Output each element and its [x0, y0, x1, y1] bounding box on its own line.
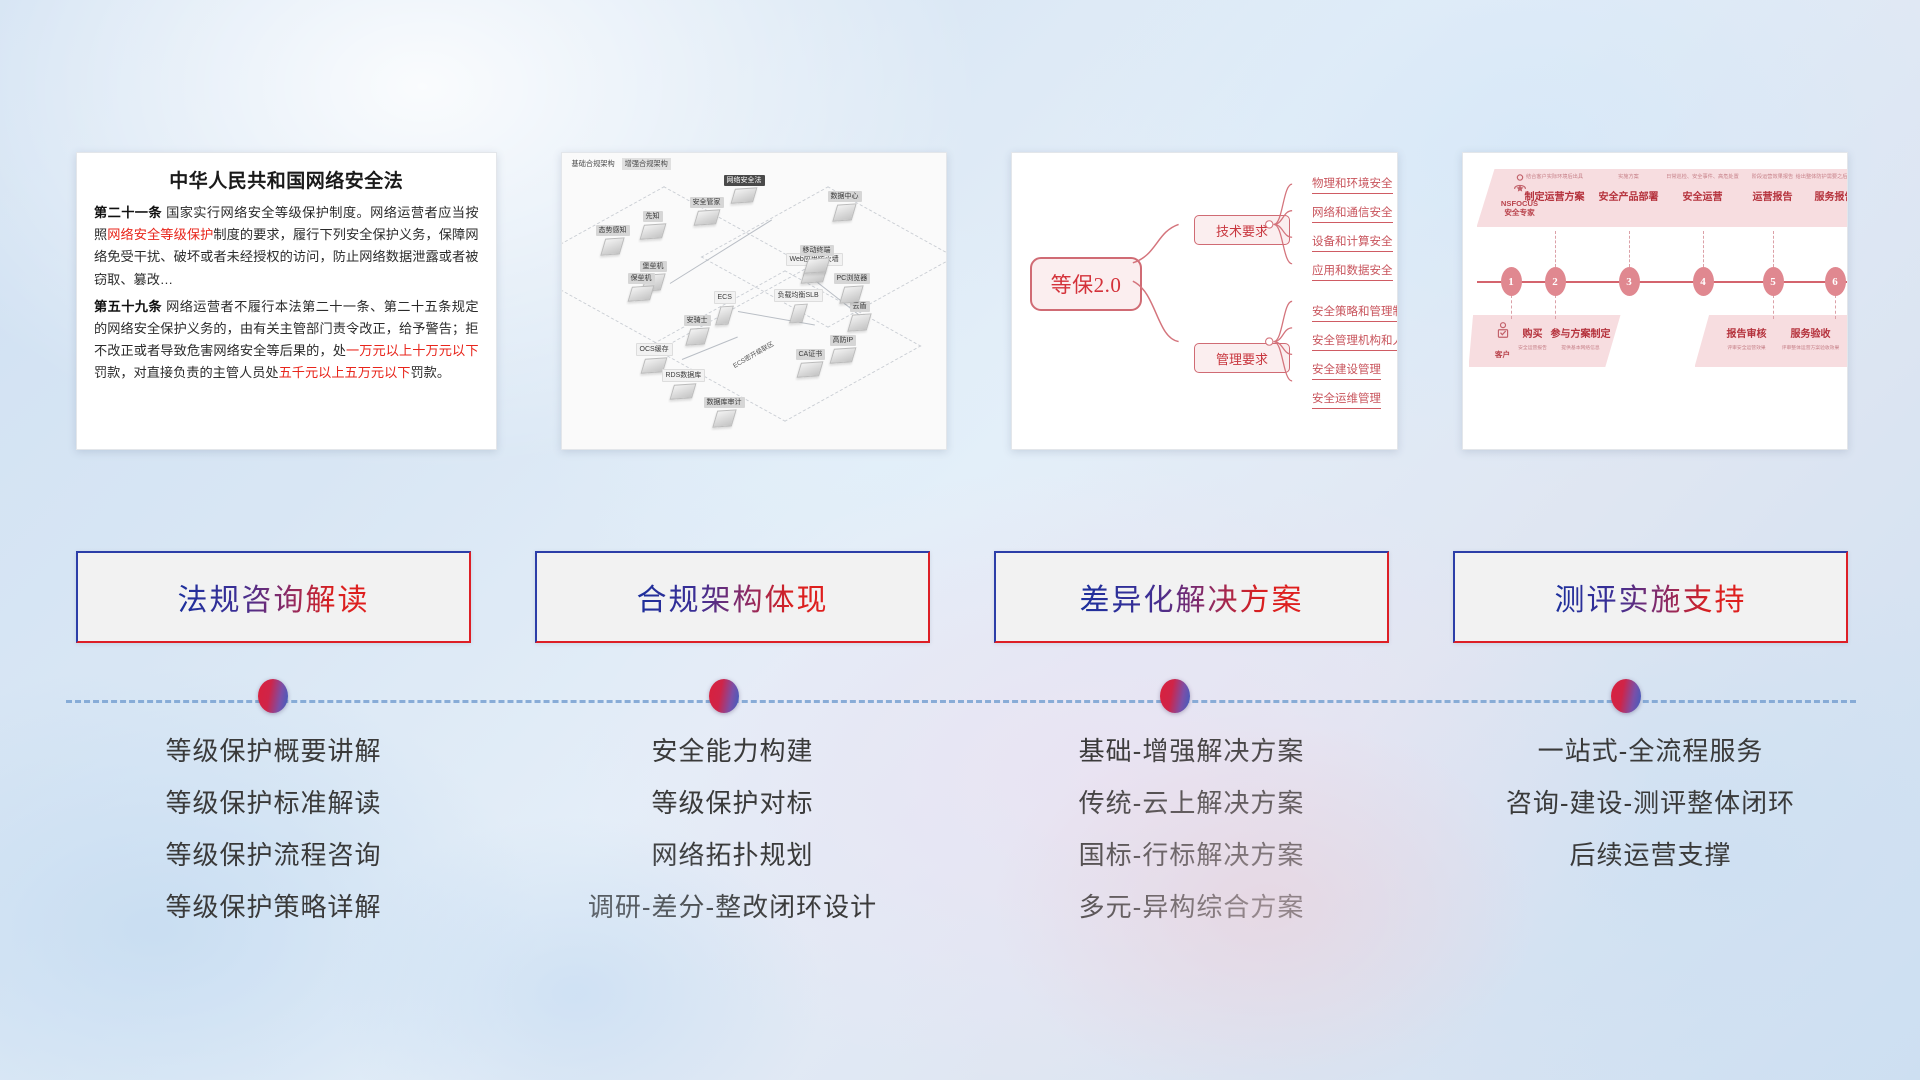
roadmap-upper-step: 日常巡检、安全事件、高危处置安全运营 [1664, 175, 1742, 203]
detail-list-column-1: 等级保护概要讲解等级保护标准解读等级保护流程咨询等级保护策略详解 [76, 738, 471, 946]
arch-node-cube-icon [712, 409, 736, 427]
detail-list-item: 安全能力构建 [651, 738, 813, 764]
law-article-59-highlight-1: 一万元以上十万元以下 [346, 343, 479, 358]
roadmap-step-subtitle: 给出整体防护需要之后本运营效果 [1796, 175, 1849, 181]
title-label-2: 合规架构体现 [637, 575, 829, 619]
detail-list-item: 基础-增强解决方案 [1079, 738, 1305, 764]
arch-node: 高防IP [830, 335, 857, 363]
detail-list-item: 后续运营支撑 [1569, 842, 1731, 868]
detail-list-item: 国标-行标解决方案 [1079, 842, 1305, 868]
roadmap-step-number: 2 [1545, 267, 1566, 296]
law-article-21: 第二十一条 国家实行网络安全等级保护制度。网络运营者应当按照网络安全等级保护制度… [94, 202, 479, 291]
roadmap-tick-lower [1511, 295, 1512, 319]
roadmap-step-number: 6 [1825, 267, 1846, 296]
law-article-59-number: 第五十九条 [94, 299, 162, 314]
arch-node-cube-icon [639, 223, 666, 239]
arch-node: PC浏览器 [834, 273, 871, 303]
law-article-59: 第五十九条 网络运营者不履行本法第二十一条、第二十五条规定的网络安全保护义务的，… [94, 296, 479, 385]
arch-node-cube-icon [847, 313, 871, 331]
mindmap-connectors [1012, 153, 1396, 398]
title-label-3: 差异化解决方案 [1080, 575, 1304, 619]
arch-node: 安骑士 [684, 315, 711, 345]
roadmap-step-name: 服务报告 [1796, 188, 1849, 203]
card-dengbao-mindmap: 等保2.0 技术要求 管理要求 物理和环境安全 网络和通信安全 设备和计算安全 … [1011, 152, 1398, 450]
arch-node: 云盾 [850, 301, 870, 331]
image-cards-row: 中华人民共和国网络安全法 第二十一条 国家实行网络安全等级保护制度。网络运营者应… [76, 152, 1848, 450]
arch-node-label: PC浏览器 [834, 273, 871, 284]
roadmap-axis-line [1477, 281, 1849, 283]
title-button-regulation-consulting[interactable]: 法规咨询解读 [76, 551, 471, 643]
roadmap-lower-step: 服务验收评审整体运营方案验收效果 [1767, 325, 1849, 351]
arch-node-label: 高防IP [830, 335, 857, 346]
architecture-tabs: 基础合规架构 增强合规架构 [569, 158, 671, 170]
roadmap-tick [1555, 231, 1556, 267]
arch-node-cube-icon [600, 237, 624, 255]
roadmap-step-number: 1 [1501, 267, 1522, 296]
title-button-assessment-support[interactable]: 测评实施支持 [1453, 551, 1848, 643]
detail-list-item: 调研-差分-整改闭环设计 [588, 894, 877, 920]
roadmap-lower-step-name: 参与方案制定 [1537, 325, 1625, 340]
detail-lists-row: 等级保护概要讲解等级保护标准解读等级保护流程咨询等级保护策略详解 安全能力构建等… [76, 738, 1848, 946]
arch-node-label: 数据库审计 [704, 397, 745, 408]
arch-node-label: 保垒机 [628, 273, 655, 284]
detail-list-item: 等级保护对标 [651, 790, 813, 816]
arch-node-label: 安全管家 [690, 197, 724, 208]
law-article-59-highlight-2: 五千元以上五万元以下 [279, 365, 411, 380]
card-cybersecurity-law: 中华人民共和国网络安全法 第二十一条 国家实行网络安全等级保护制度。网络运营者应… [76, 152, 497, 450]
arch-node-label: 移动终端 [800, 245, 834, 256]
roadmap-step-name: 安全运营 [1664, 188, 1742, 203]
detail-list-column-3: 基础-增强解决方案传统-云上解决方案国标-行标解决方案多元-异构综合方案 [994, 738, 1389, 946]
detail-list-item: 一站式-全流程服务 [1538, 738, 1764, 764]
arch-node-label: CA证书 [796, 349, 826, 360]
arch-node: 态势感知 [596, 225, 630, 255]
title-label-4: 测评实施支持 [1555, 575, 1747, 619]
arch-node-cube-icon [789, 303, 808, 323]
title-button-differentiated-solution[interactable]: 差异化解决方案 [994, 551, 1389, 643]
arch-node: 负载均衡SLB [774, 289, 823, 323]
arch-node-label: 安骑士 [684, 315, 711, 326]
law-article-21-highlight: 网络安全等级保护 [107, 227, 213, 242]
title-button-compliance-architecture[interactable]: 合规架构体现 [535, 551, 930, 643]
detail-list-item: 等级保护流程咨询 [165, 842, 381, 868]
arch-node: 数据中心 [828, 191, 862, 221]
detail-list-item: 等级保护概要讲解 [165, 738, 381, 764]
arch-node-cube-icon [731, 187, 758, 203]
roadmap-tick-lower [1773, 295, 1774, 319]
detail-list-item: 网络拓扑规划 [651, 842, 813, 868]
arch-node-cube-icon [832, 203, 856, 221]
arch-node-cube-icon [693, 209, 720, 225]
detail-list-item: 咨询-建设-测评整体闭环 [1506, 790, 1795, 816]
roadmap-step-number: 4 [1693, 267, 1714, 296]
arch-node-cube-icon [803, 257, 830, 273]
timeline-dot-2 [709, 679, 739, 713]
title-label-1: 法规咨询解读 [178, 575, 370, 619]
arch-node-cube-icon [670, 383, 697, 399]
arch-node-label: 态势感知 [596, 225, 630, 236]
law-article-59-text-c: 罚款。 [411, 365, 451, 380]
roadmap-upper-step: 给出整体防护需要之后本运营效果服务报告 [1796, 175, 1849, 203]
arch-node: 安全管家 [690, 197, 724, 225]
roadmap-expert-line2: 安全专家 [1491, 208, 1549, 217]
arch-node-cube-icon [797, 361, 824, 377]
roadmap-tick [1703, 231, 1704, 267]
arch-node: 移动终端 [800, 245, 834, 273]
arch-node-label: RDS数据库 [662, 369, 706, 382]
card-compliance-architecture: 基础合规架构 增强合规架构 ECS密开级联区 堡垒机安全管家先知态势感知保垒机E… [561, 152, 948, 450]
arch-node-label: ECS [714, 291, 736, 304]
roadmap-step-subtitle: 结合客户实际环境后出具 [1516, 175, 1594, 181]
arch-node-label: 负载均衡SLB [774, 289, 823, 302]
arch-node-label: 先知 [643, 211, 663, 222]
roadmap-tick [1629, 231, 1630, 267]
detail-list-item: 传统-云上解决方案 [1079, 790, 1305, 816]
arch-node-label: 堡垒机 [640, 261, 667, 272]
card-nsfocus-roadmap: NSFOCUS 安全专家 结合客户实际环境后出具制定运营方案实施方案安全产品部署… [1462, 152, 1849, 450]
roadmap-step-subtitle: 实施方案 [1590, 175, 1668, 181]
roadmap-tick-lower [1835, 295, 1836, 319]
arch-node-cube-icon [715, 305, 734, 325]
arch-node-cube-icon [685, 327, 709, 345]
arch-node: 数据库审计 [704, 397, 745, 427]
detail-list-item: 多元-异构综合方案 [1079, 894, 1305, 920]
law-title: 中华人民共和国网络安全法 [94, 166, 479, 193]
arch-node: 先知 [642, 211, 664, 239]
timeline-dot-3 [1160, 679, 1190, 713]
arch-node-cube-icon [829, 347, 856, 363]
detail-list-item: 等级保护标准解读 [165, 790, 381, 816]
roadmap-step-name: 制定运营方案 [1516, 188, 1594, 203]
arch-node-cube-icon [628, 285, 655, 301]
law-article-59-text-b: 罚款，对直接负责的主管人员处 [94, 365, 279, 380]
arch-node-label: 网络安全法 [724, 175, 765, 186]
detail-list-column-4: 一站式-全流程服务咨询-建设-测评整体闭环后续运营支撑 [1453, 738, 1848, 946]
timeline-dot-1 [258, 679, 288, 713]
detail-list-column-2: 安全能力构建等级保护对标网络拓扑规划调研-差分-整改闭环设计 [535, 738, 930, 946]
arch-node-cube-icon [840, 285, 864, 303]
arch-node: ECS [714, 291, 736, 325]
slide-canvas: 中华人民共和国网络安全法 第二十一条 国家实行网络安全等级保护制度。网络运营者应… [0, 0, 1920, 1080]
arch-node: 网络安全法 [724, 175, 765, 203]
law-article-21-number: 第二十一条 [94, 205, 162, 220]
roadmap-lower-step: 参与方案制定提供基本网络信息 [1537, 325, 1625, 351]
roadmap-upper-step: 结合客户实际环境后出具制定运营方案 [1516, 175, 1594, 203]
timeline-dashed-line [66, 700, 1856, 704]
tab-enhanced-architecture[interactable]: 增强合规架构 [622, 158, 671, 170]
roadmap-tick [1773, 231, 1774, 267]
detail-list-item: 等级保护策略详解 [165, 894, 381, 920]
timeline-dot-4 [1611, 679, 1641, 713]
roadmap-step-subtitle: 日常巡检、安全事件、高危处置 [1664, 175, 1742, 181]
arch-node: 保垒机 [628, 273, 655, 301]
arch-node: RDS数据库 [662, 369, 706, 399]
arch-node: CA证书 [796, 349, 826, 377]
section-titles-row: 法规咨询解读 合规架构体现 差异化解决方案 测评实施支持 [76, 551, 1848, 643]
roadmap-lower-step-name: 服务验收 [1767, 325, 1849, 340]
arch-node-label: 数据中心 [828, 191, 862, 202]
roadmap-step-number: 3 [1619, 267, 1640, 296]
roadmap-tick-lower [1555, 295, 1556, 319]
roadmap-step-name: 安全产品部署 [1590, 188, 1668, 203]
tab-basic-architecture[interactable]: 基础合规架构 [569, 158, 618, 170]
roadmap-lower-step-subtitle: 评审整体运营方案验收效果 [1767, 344, 1849, 351]
roadmap-lower-step-subtitle: 提供基本网络信息 [1537, 344, 1625, 351]
roadmap-step-number: 5 [1763, 267, 1784, 296]
roadmap-upper-step: 实施方案安全产品部署 [1590, 175, 1668, 203]
arch-node-label: OCS缓存 [636, 343, 673, 356]
